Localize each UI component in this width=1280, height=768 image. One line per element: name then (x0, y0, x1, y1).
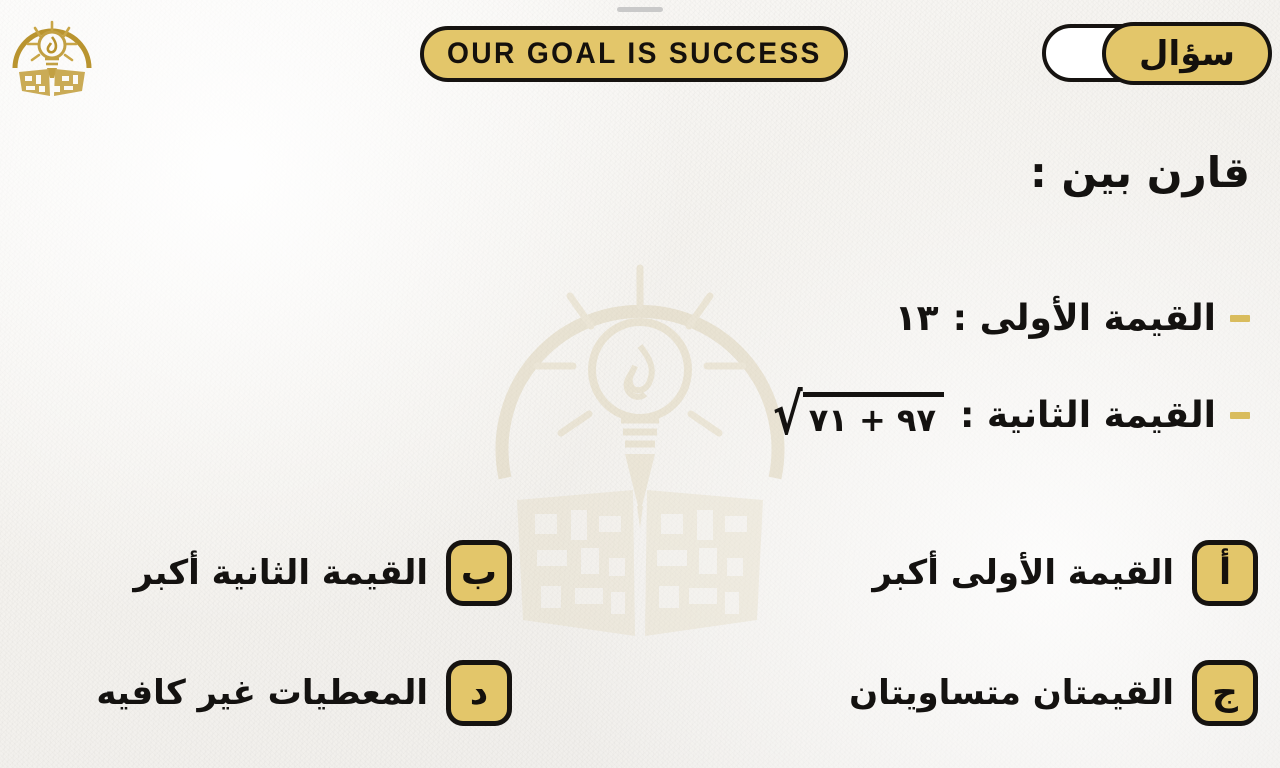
lightbulb-book-watermark-icon (475, 228, 805, 648)
goal-banner-text: OUR GOAL IS SUCCESS (447, 37, 822, 71)
option-text-b[interactable]: القيمة الثانية أكبر (133, 553, 428, 593)
first-value-label: القيمة الأولى : (953, 298, 1216, 339)
second-value-radicand: ٩٧ + ٧١ (803, 392, 944, 439)
option-key-badge-c[interactable]: ج (1192, 660, 1258, 726)
option-text-d[interactable]: المعطيات غير كافيه (96, 673, 428, 713)
value-row-second: القيمة الثانية : √ ٩٧ + ٧١ (769, 392, 1250, 439)
square-root-expression: √ ٩٧ + ٧١ (769, 392, 944, 439)
page-title: قارن بين : (1030, 148, 1250, 197)
answer-option-c[interactable]: ج القيمتان متساويتان (849, 660, 1258, 726)
option-text-c[interactable]: القيمتان متساويتان (849, 673, 1174, 713)
lightbulb-book-logo-icon (6, 8, 98, 100)
option-key-badge-d[interactable]: د (446, 660, 512, 726)
answer-option-a[interactable]: أ القيمة الأولى أكبر (872, 540, 1258, 606)
bullet-dash-icon (1230, 315, 1250, 322)
question-slide: OUR GOAL IS SUCCESS ٤٣ سؤال قارن بين : ا… (0, 0, 1280, 768)
answer-option-d[interactable]: د المعطيات غير كافيه (96, 660, 512, 726)
radical-sign-icon: √ (773, 394, 803, 441)
option-key-badge-b[interactable]: ب (446, 540, 512, 606)
bullet-dash-icon (1230, 412, 1250, 419)
first-value-number: ١٣ (895, 298, 939, 339)
option-text-a[interactable]: القيمة الأولى أكبر (872, 553, 1174, 593)
value-row-first: القيمة الأولى : ١٣ (895, 298, 1250, 339)
question-label-text: سؤال (1139, 37, 1235, 71)
second-value-label: القيمة الثانية : (960, 395, 1216, 436)
option-key-badge-a[interactable]: أ (1192, 540, 1258, 606)
answer-option-b[interactable]: ب القيمة الثانية أكبر (133, 540, 512, 606)
question-label-pill: سؤال (1102, 22, 1272, 85)
screen-notch-handle (617, 7, 663, 12)
question-number-badge: ٤٣ سؤال (1042, 22, 1272, 86)
goal-banner: OUR GOAL IS SUCCESS (420, 26, 848, 82)
